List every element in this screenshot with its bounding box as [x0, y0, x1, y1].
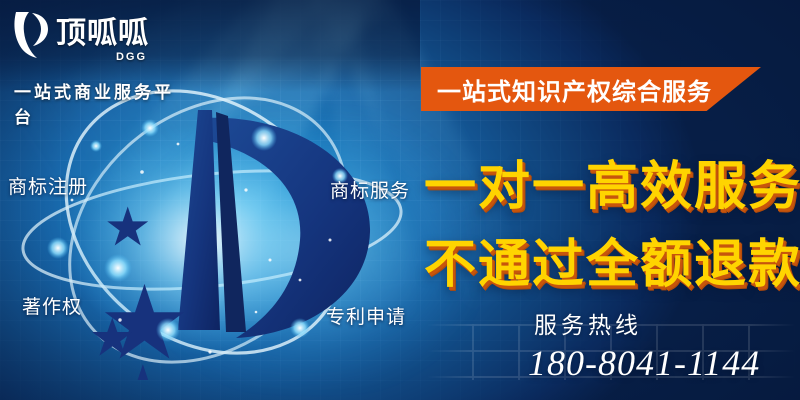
headline-primary: 一对一高效服务 [424, 144, 800, 219]
brand-name-cn: 顶呱呱 [56, 19, 149, 49]
hotline-label: 服务热线 [534, 306, 642, 340]
keyword-trademark-registration: 商标注册 [8, 172, 88, 199]
service-ribbon: 一站式知识产权综合服务 [421, 67, 761, 111]
keyword-trademark-service: 商标服务 [330, 176, 410, 203]
service-ribbon-text: 一站式知识产权综合服务 [421, 72, 712, 107]
dgg-leaf-logo-icon [10, 8, 54, 60]
promo-column: 一站式知识产权综合服务 一对一高效服务 不通过全额退款 服务热线 180-804… [418, 0, 800, 400]
brand-logo[interactable]: 顶呱呱 DGG 一站式商业服务平台 [10, 8, 190, 128]
brand-name-latin: DGG [116, 52, 147, 63]
promo-banner: 顶呱呱 DGG 一站式商业服务平台 商标注册 著作权 商标服务 专利申请 一站式… [0, 0, 800, 400]
hotline-number[interactable]: 180-8041-1144 [528, 342, 760, 384]
headline-secondary: 不通过全额退款 [424, 222, 800, 297]
keyword-patent-application: 专利申请 [326, 302, 406, 329]
brand-tagline: 一站式商业服务平台 [14, 78, 190, 128]
keyword-copyright: 著作权 [22, 292, 82, 319]
